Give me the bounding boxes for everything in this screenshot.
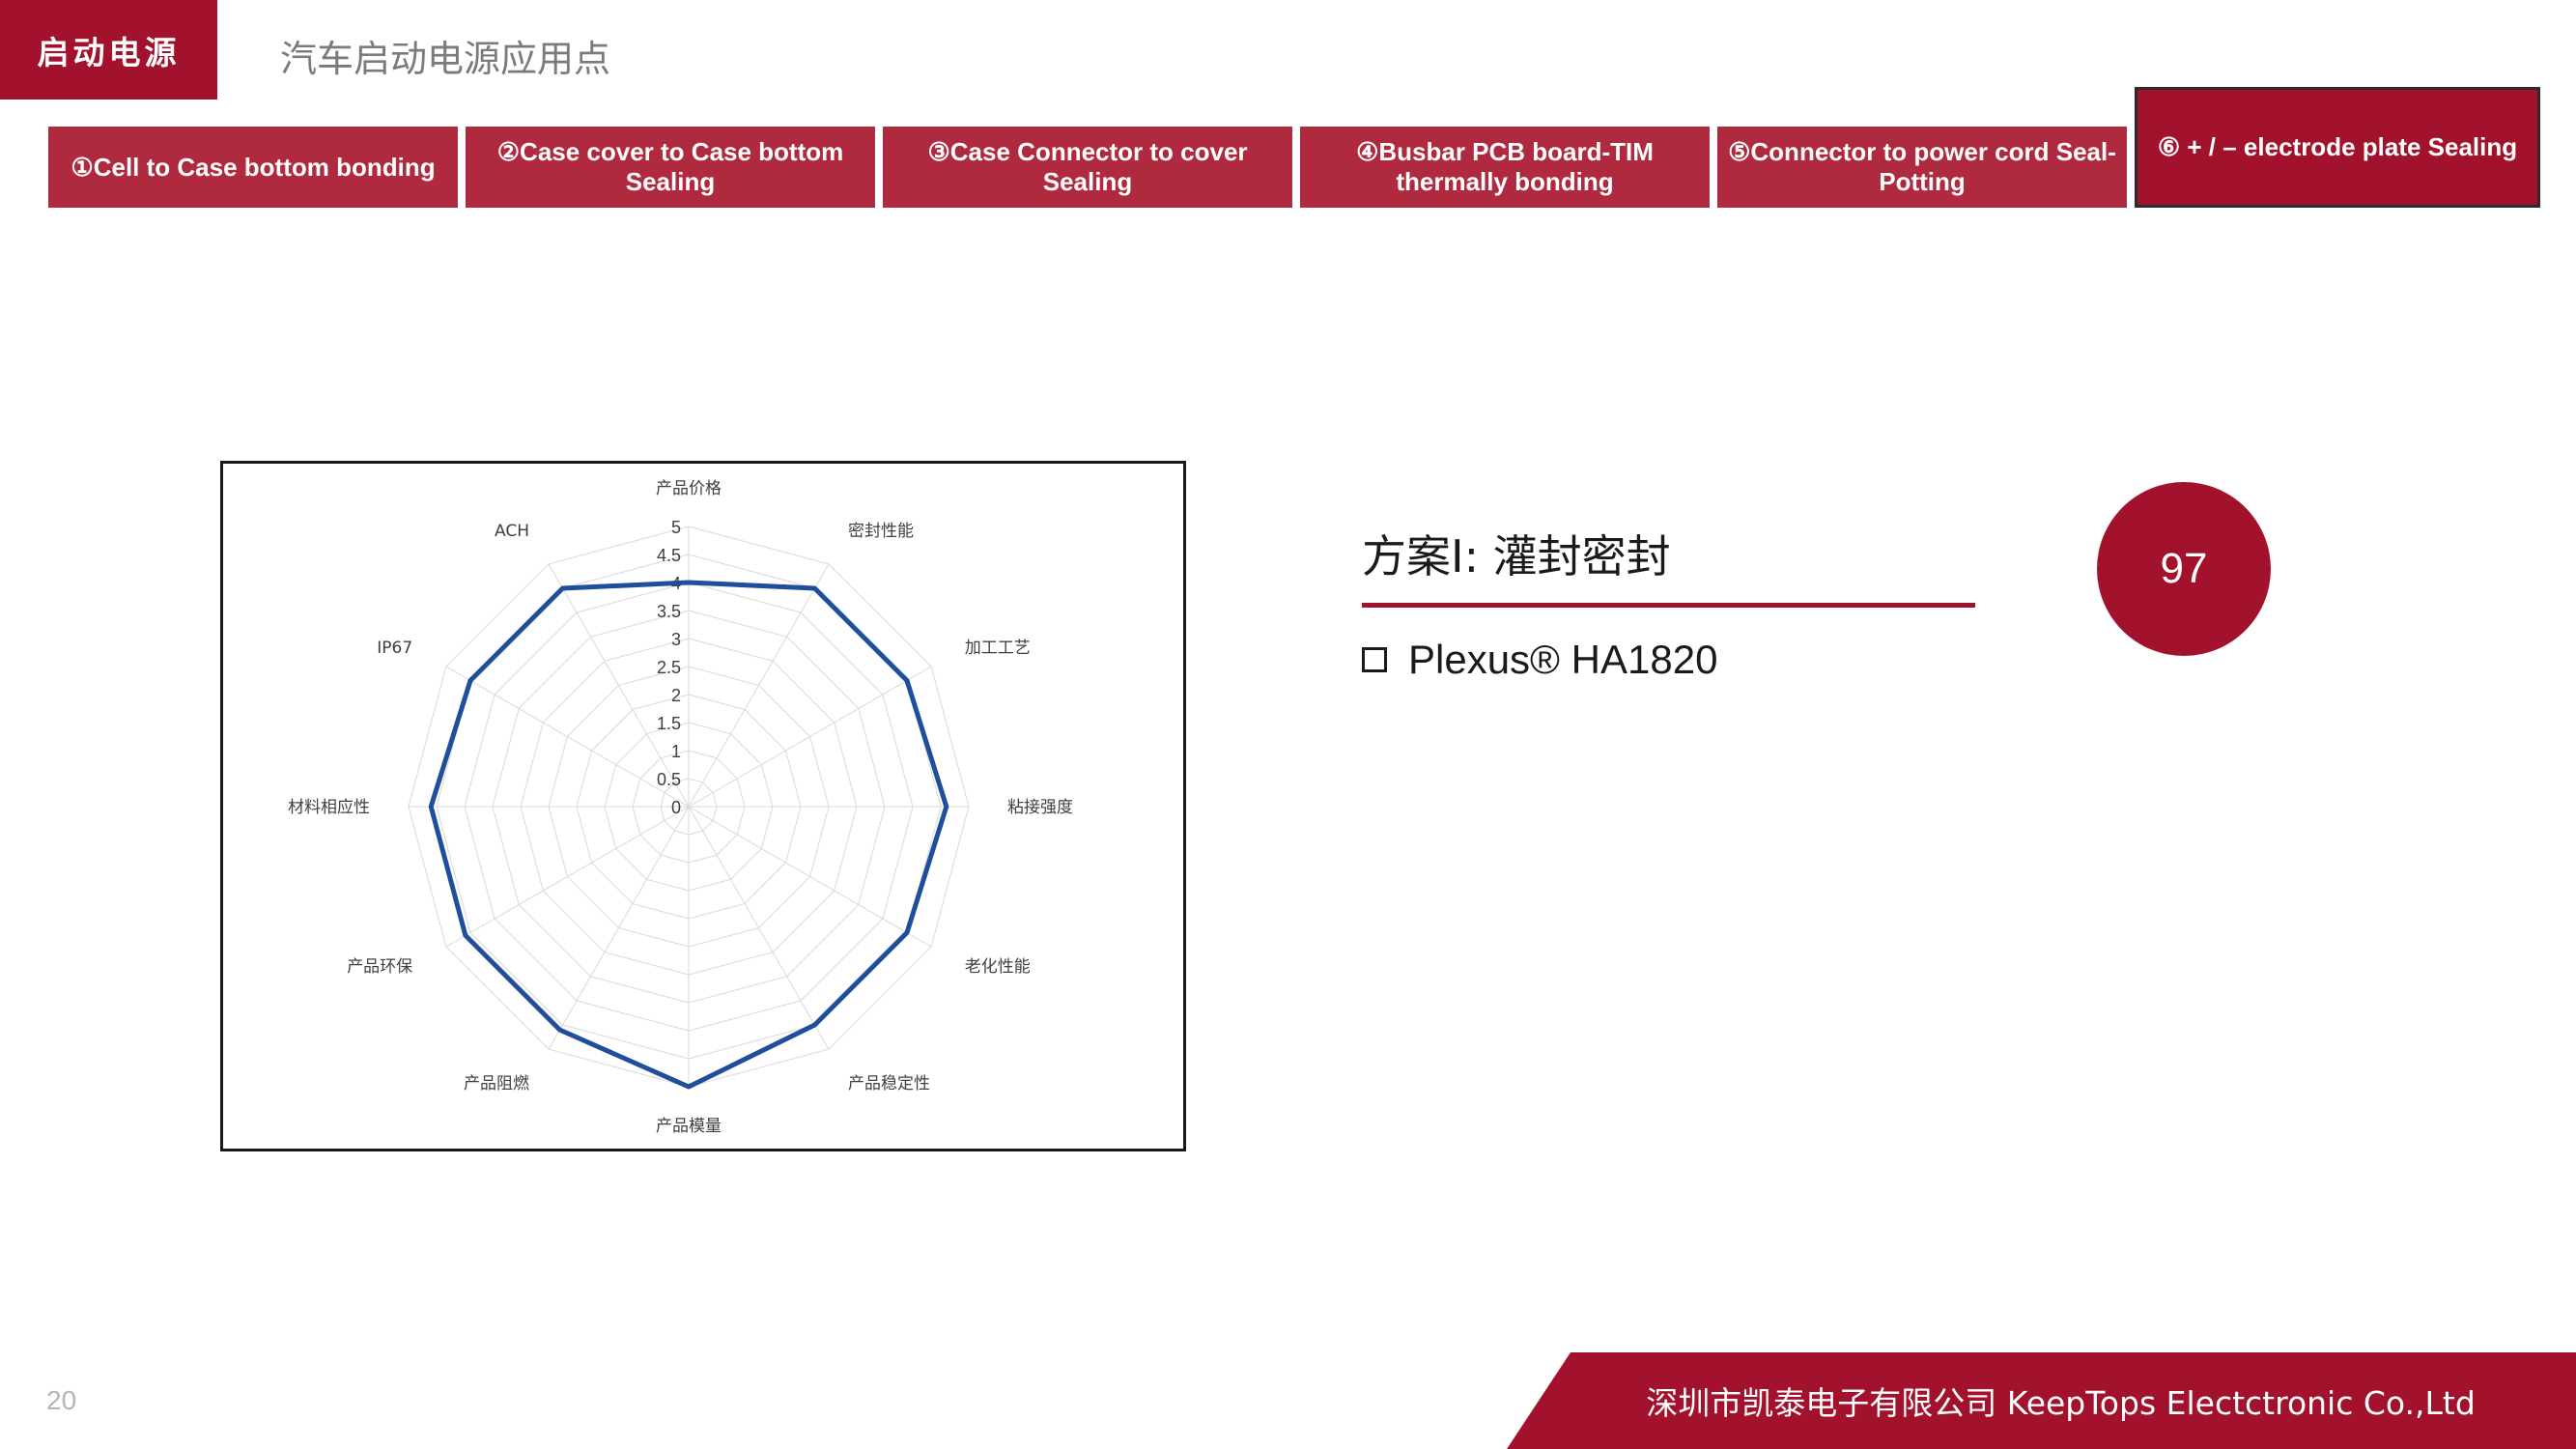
svg-text:产品模量: 产品模量 (656, 1117, 722, 1136)
tab-busbar-pcb-board-tim-bonding[interactable]: ④Busbar PCB board-TIM thermally bonding (1300, 127, 1710, 208)
svg-text:IP67: IP67 (377, 639, 412, 658)
tab-cell-to-case-bottom-bonding[interactable]: ①Cell to Case bottom bonding (48, 127, 458, 208)
svg-text:密封性能: 密封性能 (848, 522, 914, 541)
application-point-tabs: ①Cell to Case bottom bonding ②Case cover… (48, 127, 2540, 208)
footer-banner: 深圳市凯泰电子有限公司 KeepTops Electctronic Co.,Lt… (1507, 1352, 2576, 1449)
svg-text:粘接强度: 粘接强度 (1007, 798, 1073, 817)
svg-text:产品阻燃: 产品阻燃 (464, 1074, 529, 1094)
svg-text:1.5: 1.5 (657, 714, 681, 733)
scheme-product-label: Plexus® HA1820 (1408, 637, 1717, 683)
brand-logo: 启动电源 (0, 0, 217, 99)
score-badge: 97 (2097, 482, 2271, 656)
svg-text:产品价格: 产品价格 (656, 479, 722, 498)
radar-chart: 00.511.522.533.544.55产品价格密封性能加工工艺粘接强度老化性… (223, 464, 1183, 1149)
scheme-divider (1362, 603, 1975, 608)
radar-chart-panel: 00.511.522.533.544.55产品价格密封性能加工工艺粘接强度老化性… (220, 461, 1186, 1151)
scheme-product-item: Plexus® HA1820 (1362, 637, 2135, 683)
svg-text:4.5: 4.5 (657, 546, 681, 565)
page-header: 启动电源 汽车启动电源应用点 (0, 0, 2576, 99)
svg-text:1: 1 (671, 742, 681, 761)
square-bullet-icon (1362, 647, 1387, 672)
svg-text:2: 2 (671, 686, 681, 705)
tab-electrode-plate-sealing[interactable]: ⑥ + / – electrode plate Sealing (2135, 87, 2540, 208)
svg-text:2.5: 2.5 (657, 658, 681, 677)
svg-text:3.5: 3.5 (657, 602, 681, 621)
svg-text:老化性能: 老化性能 (965, 957, 1031, 977)
svg-text:0.5: 0.5 (657, 770, 681, 789)
scheme-description: 方案Ⅰ: 灌封密封 Plexus® HA1820 (1362, 522, 2135, 683)
page-title: 汽车启动电源应用点 (280, 29, 610, 82)
svg-text:3: 3 (671, 630, 681, 649)
svg-text:ACH: ACH (495, 522, 529, 541)
svg-text:5: 5 (671, 518, 681, 537)
tab-case-cover-to-case-bottom-sealing[interactable]: ②Case cover to Case bottom Sealing (466, 127, 875, 208)
brand-logo-text: 启动电源 (38, 27, 181, 73)
svg-text:加工工艺: 加工工艺 (965, 639, 1031, 658)
company-name: 深圳市凯泰电子有限公司 KeepTops Electctronic Co.,Lt… (1607, 1378, 2476, 1424)
svg-text:产品环保: 产品环保 (347, 957, 412, 977)
scheme-title: 方案Ⅰ: 灌封密封 (1362, 522, 2135, 603)
svg-text:0: 0 (671, 798, 681, 817)
svg-text:材料相应性: 材料相应性 (288, 798, 370, 817)
page-number: 20 (46, 1385, 76, 1416)
score-value: 97 (2161, 545, 2208, 593)
svg-text:产品稳定性: 产品稳定性 (848, 1074, 930, 1094)
tab-case-connector-to-cover-sealing[interactable]: ③Case Connector to cover Sealing (883, 127, 1292, 208)
tab-connector-to-power-cord-potting[interactable]: ⑤Connector to power cord Seal-Potting (1717, 127, 2127, 208)
